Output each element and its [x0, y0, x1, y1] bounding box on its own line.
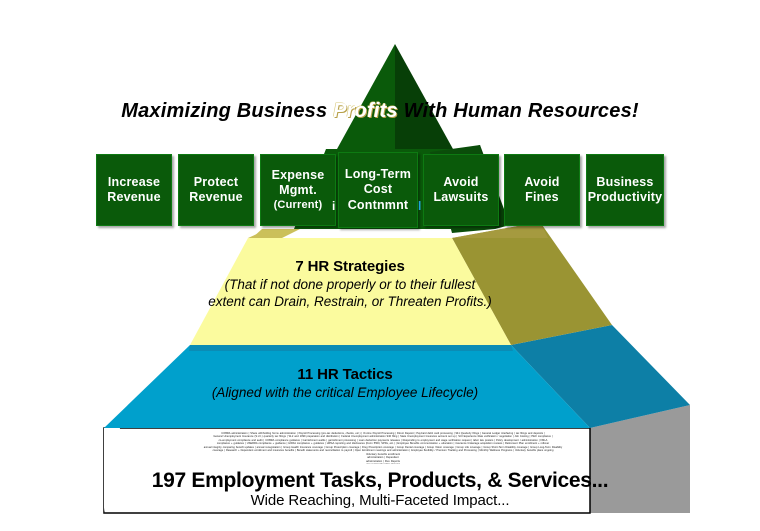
benefit-box-line2: Mgmt.	[279, 183, 317, 198]
benefit-box-line1: Business	[596, 175, 653, 190]
benefit-box-line1: Expense	[272, 168, 325, 183]
stray-mark-i: i	[332, 200, 335, 212]
benefit-box-line3: Contnmnt	[348, 198, 409, 213]
stray-mark-l: l	[418, 200, 421, 212]
pyramid-diagram	[0, 0, 760, 531]
tactics-tier-top-edge	[189, 345, 513, 351]
benefit-box-increase-revenue[interactable]: Increase Revenue	[96, 154, 172, 226]
strategies-tier-wedge-accent	[252, 229, 300, 238]
benefit-box-line2: Revenue	[107, 190, 161, 205]
peak-shaded-face	[395, 44, 453, 149]
benefit-box-line2: Fines	[525, 190, 559, 205]
benefit-box-line1: Avoid	[443, 175, 478, 190]
benefit-box-line1: Protect	[194, 175, 238, 190]
benefit-box-avoid-lawsuits[interactable]: Avoid Lawsuits	[423, 154, 499, 226]
benefit-box-line1: Increase	[108, 175, 160, 190]
base-tier-front-face	[104, 428, 590, 513]
benefit-box-business-productivity[interactable]: Business Productivity	[586, 154, 664, 226]
benefit-box-protect-revenue[interactable]: Protect Revenue	[178, 154, 254, 226]
benefit-box-line1: Long-Term	[345, 167, 411, 182]
benefit-box-line2: Lawsuits	[433, 190, 488, 205]
benefit-box-line1: Avoid	[524, 175, 559, 190]
benefit-box-longterm-cost[interactable]: Long-Term Cost Contnmnt	[338, 152, 418, 228]
peak-lit-face	[337, 44, 395, 149]
benefit-box-line2: Productivity	[588, 190, 663, 205]
benefit-box-avoid-fines[interactable]: Avoid Fines	[504, 154, 580, 226]
benefit-box-expense-mgmt[interactable]: Expense Mgmt. (Current)	[260, 154, 336, 226]
benefit-box-line3: (Current)	[274, 199, 323, 212]
hr-pyramid-infographic: Maximizing Business Profits With Human R…	[0, 0, 760, 531]
benefit-box-line2: Revenue	[189, 190, 243, 205]
tactics-tier-front-face	[104, 345, 590, 428]
benefit-box-line2: Cost	[364, 182, 393, 197]
